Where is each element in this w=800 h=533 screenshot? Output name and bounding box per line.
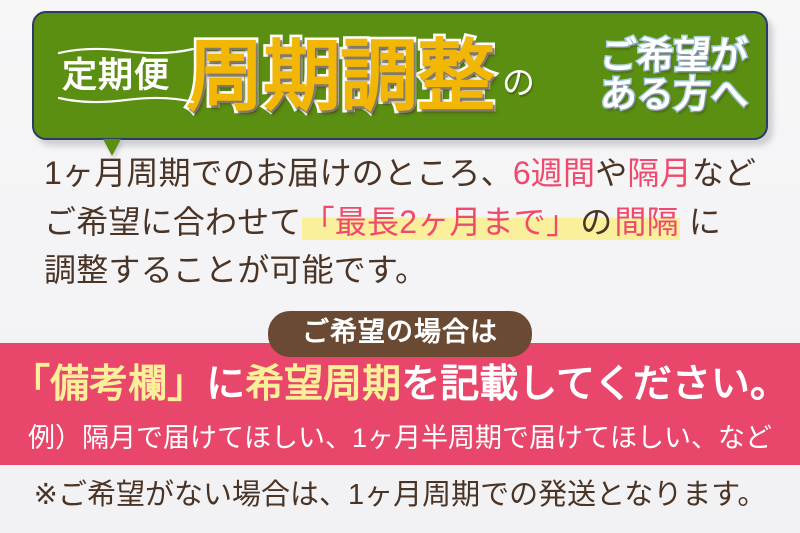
band-main-highlight-2: 希望周期 xyxy=(245,363,401,406)
footnote-text: ※ご希望がない場合は、1ヶ月周期での発送となります。 xyxy=(0,479,800,512)
band-main-message: 「備考欄」に希望周期を記載してください。 xyxy=(0,364,800,407)
body-line-3: 調整することが可能です。 xyxy=(44,246,774,295)
header-wish-block: ご希望が ある方へ xyxy=(600,37,748,113)
body-line-1-part-c: など xyxy=(692,155,756,191)
header-bubble: 定期便 周期調整 の ご希望が ある方へ xyxy=(32,11,768,140)
header-wish-line-1: ご希望が xyxy=(600,37,748,75)
body-line-1-accent-1: 6週間 xyxy=(513,155,595,191)
body-line-1-part-b: や xyxy=(595,155,627,191)
band-main-plain-2: を記載してください。 xyxy=(401,363,789,406)
wave-rule-top-icon xyxy=(58,47,194,56)
body-line-2-accent-2: 間隔 xyxy=(613,204,679,240)
wave-rule-bottom-icon xyxy=(58,95,194,104)
body-line-1: 1ヶ月周期でのお届けのところ、6週間や隔月など xyxy=(44,149,774,198)
body-line-2-part-b: の xyxy=(579,204,613,240)
promo-banner: 定期便 周期調整 の ご希望が ある方へ 1ヶ月周期でのお届けのところ、6週間や… xyxy=(0,0,800,533)
subscription-tag: 定期便 xyxy=(60,45,172,106)
header-title-particle: の xyxy=(502,66,535,99)
band-example-text: 例）隔月で届けてほしい、1ヶ月半周期で届けてほしい、など xyxy=(0,424,800,454)
request-badge: ご希望の場合は xyxy=(268,311,532,357)
band-main-plain-1: に xyxy=(206,363,245,406)
header-title: 周期調整 xyxy=(186,37,494,115)
subscription-tag-label: 定期便 xyxy=(62,58,170,93)
body-line-1-accent-2: 隔月 xyxy=(627,155,691,191)
body-line-2: ご希望に合わせて「最長2ヶ月まで」の間隔 に xyxy=(44,198,774,247)
body-line-1-part-a: 1ヶ月周期でのお届けのところ、 xyxy=(44,155,513,191)
body-line-2-part-a: ご希望に合わせて xyxy=(44,204,302,240)
body-copy: 1ヶ月周期でのお届けのところ、6週間や隔月など ご希望に合わせて「最長2ヶ月まで… xyxy=(44,149,774,295)
band-main-highlight-1: 「備考欄」 xyxy=(11,363,206,406)
header-wish-line-2: ある方へ xyxy=(600,76,748,114)
body-line-2-accent-1: 「最長2ヶ月まで」 xyxy=(302,204,580,240)
header-row: 定期便 周期調整 の ご希望が ある方へ xyxy=(34,13,766,138)
body-line-2-part-c: に xyxy=(680,204,721,240)
